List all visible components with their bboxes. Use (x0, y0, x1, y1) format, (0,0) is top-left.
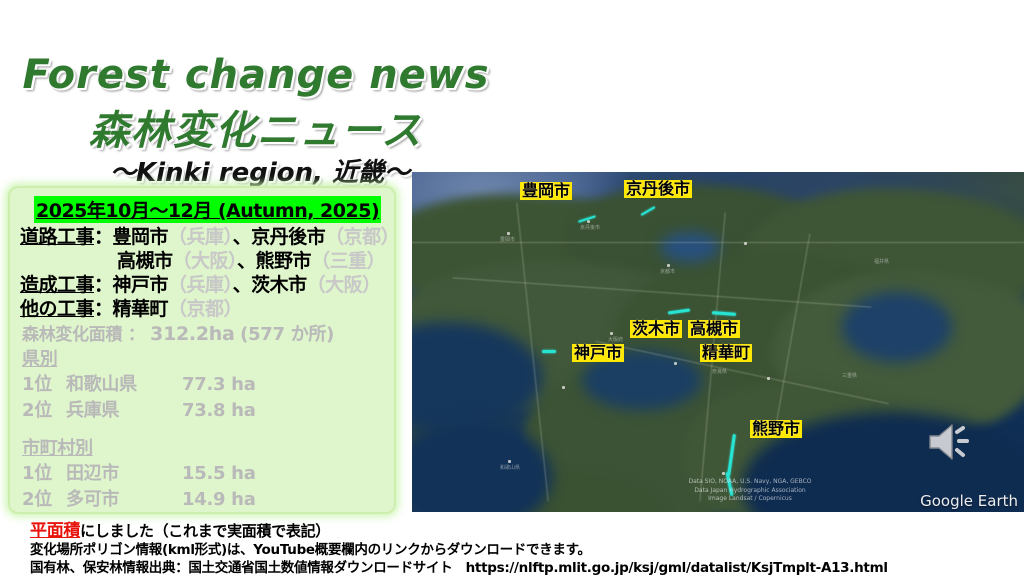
prefecture-rank-row: 2位兵庫県73.8 ha (22, 396, 256, 422)
work-city: 京丹後市 (251, 226, 325, 248)
total-area-line: 森林変化面積 ： 312.2ha (577 か所) (22, 320, 334, 346)
prefecture-rank-row: 1位和歌山県77.3 ha (22, 370, 256, 396)
work-city: 高槻市 (117, 250, 173, 272)
rank-area-value: 15.5 ha (182, 463, 256, 484)
work-prefecture: （京都） (325, 226, 399, 248)
page-title-japanese: 森林変化ニュース (0, 98, 512, 156)
work-row: 道路工事：豊岡市（兵庫）、京丹後市（京都） (20, 222, 399, 249)
rank-area-value: 77.3 ha (182, 374, 256, 395)
work-prefecture: （京都） (168, 298, 242, 320)
work-separator: 、 (233, 226, 252, 248)
work-colon: ： (94, 298, 113, 320)
work-prefecture: （三重） (311, 250, 385, 272)
work-prefecture: （大阪） (173, 250, 238, 272)
rank-area-name: 田辺市 (66, 459, 182, 485)
footnote-data-source: 国有林、保安林情報出典：国土交通省国土数値情報ダウンロードサイト https:/… (30, 556, 888, 576)
work-prefecture: （兵庫） (168, 226, 233, 248)
google-earth-logo: Google Earth (920, 492, 1018, 510)
rank-position: 2位 (22, 485, 66, 511)
speaker-icon[interactable] (926, 422, 972, 466)
map-label-茨木市: 茨木市 (630, 320, 682, 338)
work-row: 高槻市（大阪）、熊野市（三重） (20, 246, 385, 273)
work-type-label: 造成工事 (20, 274, 94, 296)
map-label-京丹後市: 京丹後市 (624, 180, 692, 198)
info-panel: 2025年10月〜12月 (Autumn, 2025) 道路工事：豊岡市（兵庫）… (8, 186, 396, 514)
map-label-神戸市: 神戸市 (572, 344, 624, 362)
municipality-rank-row: 1位田辺市15.5 ha (22, 459, 256, 485)
rank-area-name: 和歌山県 (66, 370, 182, 396)
rank-position: 1位 (22, 459, 66, 485)
footnote-kml-download: 変化場所ポリゴン情報(kml形式)は、YouTube概要欄内のリンクからダウンロ… (30, 538, 591, 558)
work-colon: ： (94, 274, 113, 296)
period-heading: 2025年10月〜12月 (Autumn, 2025) (34, 196, 381, 223)
map-label-豊岡市: 豊岡市 (520, 182, 572, 200)
work-prefecture: （大阪） (307, 274, 381, 296)
rank-position: 1位 (22, 370, 66, 396)
work-city: 熊野市 (256, 250, 312, 272)
work-city: 精華町 (113, 298, 169, 320)
total-sites: (577 か所) (240, 324, 334, 345)
work-separator: 、 (237, 250, 256, 272)
map-attribution: Data SIO, NOAA, U.S. Navy, NGA, GEBCO Da… (650, 478, 850, 504)
work-row: 造成工事：神戸市（兵庫）、茨木市（大阪） (20, 270, 381, 297)
total-area-label: 森林変化面積 ： (22, 325, 145, 345)
municipality-rank-row: 2位多可市14.9 ha (22, 485, 256, 511)
work-prefecture: （兵庫） (168, 274, 233, 296)
work-city: 茨木市 (251, 274, 307, 296)
work-city: 神戸市 (113, 274, 169, 296)
map-label-精華町: 精華町 (700, 344, 752, 362)
map-label-熊野市: 熊野市 (750, 420, 802, 438)
rank-area-value: 14.9 ha (182, 489, 256, 510)
rank-position: 2位 (22, 396, 66, 422)
total-area-value: 312.2ha (150, 323, 234, 345)
work-row: 他の工事：精華町（京都） (20, 294, 242, 321)
work-colon: ： (94, 226, 113, 248)
page-title-english: Forest change news (0, 52, 512, 98)
rank-area-name: 多可市 (66, 485, 182, 511)
work-separator: 、 (233, 274, 252, 296)
map-label-高槻市: 高槻市 (688, 320, 740, 338)
rank-area-name: 兵庫県 (66, 396, 182, 422)
work-city: 豊岡市 (113, 226, 169, 248)
prefecture-ranking-heading: 県別 (22, 345, 57, 371)
work-type-label: 道路工事 (20, 226, 94, 248)
work-type-label: 他の工事 (20, 298, 94, 320)
satellite-map[interactable]: 豊岡市 京丹後市 京都市 福井県 大阪府 三重県 和歌山県 奈良県 豊岡市京丹後… (412, 172, 1024, 512)
rank-area-value: 73.8 ha (182, 400, 256, 421)
municipality-ranking-heading: 市町村別 (22, 434, 93, 460)
